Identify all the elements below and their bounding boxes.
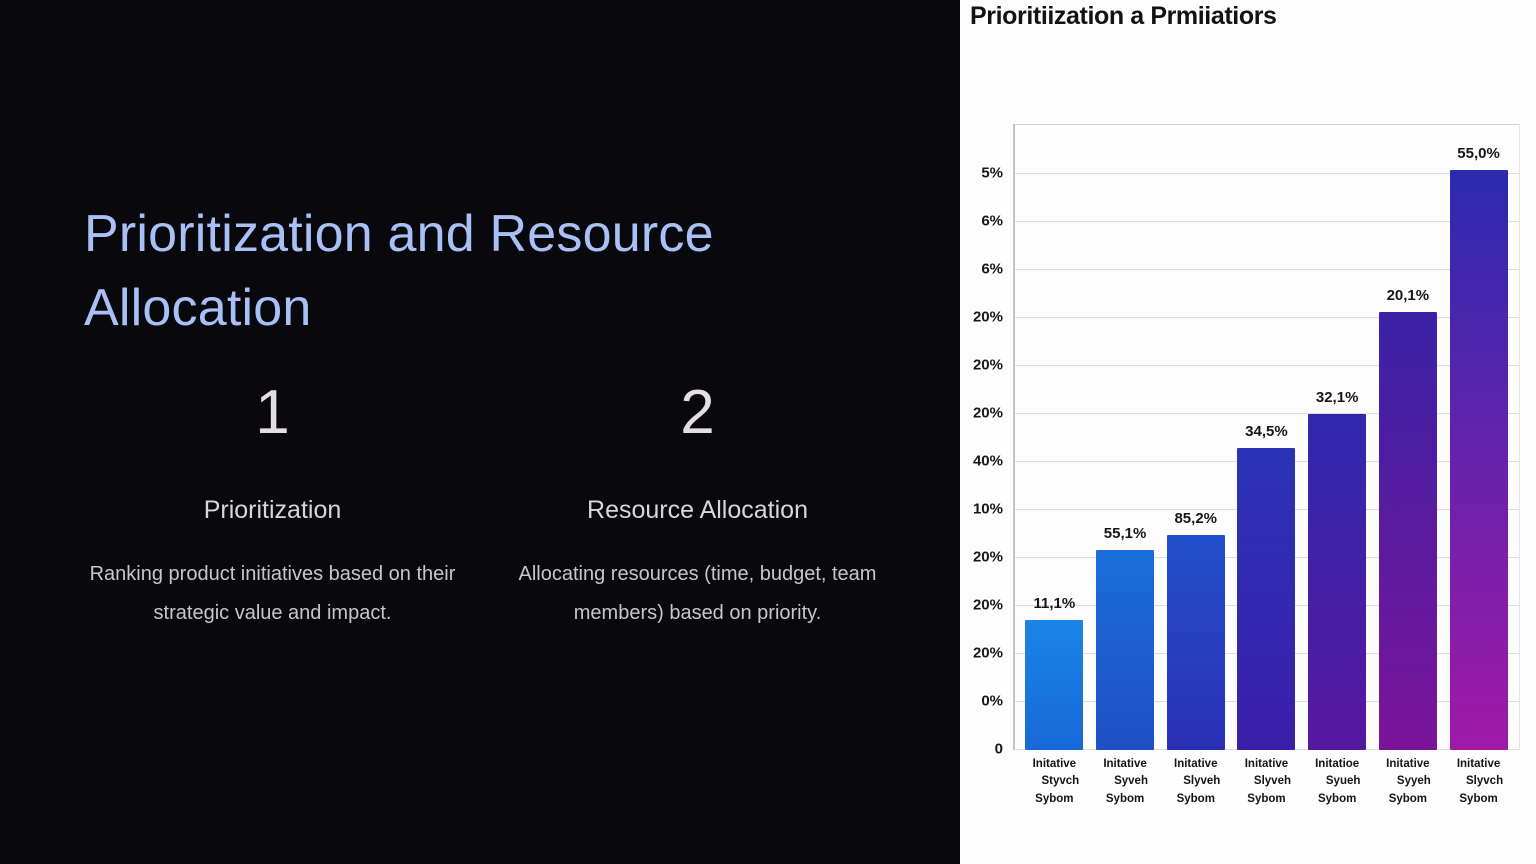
y-axis-tick-label: 20% bbox=[973, 405, 1003, 422]
y-axis-tick-label: 0% bbox=[981, 693, 1003, 710]
bar-value-label: 32,1% bbox=[1316, 389, 1359, 406]
feature-description: Ranking product initiatives based on the… bbox=[68, 555, 477, 633]
bar[interactable] bbox=[1379, 312, 1437, 750]
feature-columns: 1 Prioritization Ranking product initiat… bbox=[60, 382, 910, 633]
y-axis-tick-label: 40% bbox=[973, 453, 1003, 470]
y-axis-tick-label: 5% bbox=[981, 165, 1003, 182]
bar-slot: 55,1% bbox=[1096, 124, 1154, 750]
page-title: Prioritization and Resource Allocation bbox=[84, 198, 824, 346]
y-axis-tick-label: 20% bbox=[973, 309, 1003, 326]
x-axis-tick-label: InitativeSyvehSybom bbox=[1096, 756, 1154, 808]
chart-bars: 11,1%55,1%85,2%34,5%32,1%20,1%55,0% bbox=[1013, 124, 1520, 750]
chart-plot-wrap: 5%6%6%20%20%20%40%10%20%20%20%0%0 11,1%5… bbox=[1013, 124, 1520, 750]
feature-heading: Prioritization bbox=[68, 496, 477, 525]
feature-column-2: 2 Resource Allocation Allocating resourc… bbox=[485, 382, 910, 633]
x-axis-tick-label: InitativeStyvchSybom bbox=[1025, 756, 1083, 808]
left-content-panel: Prioritization and Resource Allocation 1… bbox=[0, 0, 960, 864]
bar-value-label: 11,1% bbox=[1033, 595, 1075, 612]
feature-heading: Resource Allocation bbox=[493, 496, 902, 525]
chart-x-axis-labels: InitativeStyvchSybomInitativeSyvehSybomI… bbox=[1013, 756, 1520, 808]
feature-number: 1 bbox=[68, 382, 477, 444]
y-axis-tick-label: 6% bbox=[981, 261, 1003, 278]
bar[interactable] bbox=[1308, 414, 1366, 750]
bar-slot: 20,1% bbox=[1379, 124, 1437, 750]
bar-value-label: 55,0% bbox=[1457, 145, 1500, 162]
bar-slot: 32,1% bbox=[1308, 124, 1366, 750]
feature-description: Allocating resources (time, budget, team… bbox=[493, 555, 902, 633]
bar-value-label: 85,2% bbox=[1174, 510, 1217, 527]
y-axis-tick-label: 20% bbox=[973, 645, 1003, 662]
y-axis-tick-label: 20% bbox=[973, 597, 1003, 614]
bar[interactable] bbox=[1450, 170, 1508, 750]
x-axis-tick-label: InitativeSlyvchSybom bbox=[1450, 756, 1508, 808]
bar[interactable] bbox=[1025, 620, 1083, 750]
bar-slot: 55,0% bbox=[1450, 124, 1508, 750]
feature-number: 2 bbox=[493, 382, 902, 444]
x-axis-tick-label: InitativeSyyehSybom bbox=[1379, 756, 1437, 808]
bar[interactable] bbox=[1096, 550, 1154, 750]
bar[interactable] bbox=[1167, 535, 1225, 750]
y-axis-tick-label: 6% bbox=[981, 213, 1003, 230]
x-axis-tick-label: InitativeSlyvehSybom bbox=[1237, 756, 1295, 808]
y-axis-tick-label: 20% bbox=[973, 549, 1003, 566]
bar[interactable] bbox=[1237, 448, 1295, 750]
bar-slot: 85,2% bbox=[1167, 124, 1225, 750]
x-axis-tick-label: InitativeSlyvehSybom bbox=[1167, 756, 1225, 808]
chart-panel: Prioritiization a Prmiiatiors 5%6%6%20%2… bbox=[960, 0, 1536, 864]
slide-root: Prioritization and Resource Allocation 1… bbox=[0, 0, 1536, 864]
x-axis-tick-label: InitatioeSyuehSybom bbox=[1308, 756, 1366, 808]
bar-value-label: 55,1% bbox=[1104, 525, 1147, 542]
y-axis-tick-label: 0 bbox=[995, 741, 1003, 758]
y-axis-tick-label: 20% bbox=[973, 357, 1003, 374]
feature-column-1: 1 Prioritization Ranking product initiat… bbox=[60, 382, 485, 633]
bar-slot: 34,5% bbox=[1237, 124, 1295, 750]
bar-slot: 11,1% bbox=[1025, 124, 1083, 750]
bar-value-label: 20,1% bbox=[1387, 287, 1430, 304]
bar-value-label: 34,5% bbox=[1245, 423, 1288, 440]
chart-title: Prioritiization a Prmiiatiors bbox=[970, 2, 1277, 31]
y-axis-tick-label: 10% bbox=[973, 501, 1003, 518]
